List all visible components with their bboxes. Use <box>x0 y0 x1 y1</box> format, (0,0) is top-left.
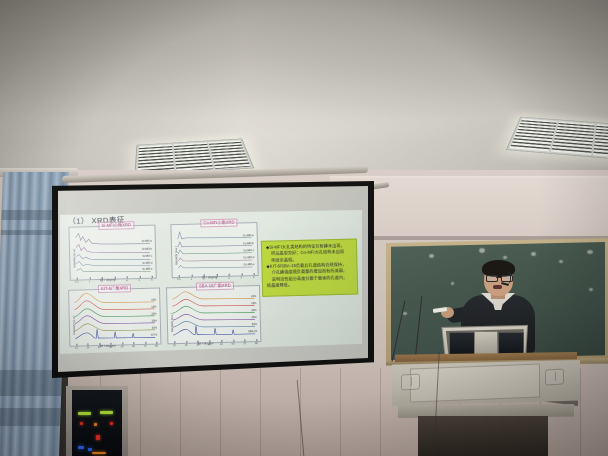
chalk-smudge <box>479 248 485 253</box>
rack-status-led <box>88 448 92 451</box>
curve-label-tl-3: Si-MFI-c <box>142 255 152 258</box>
xrd-plot-top-right: Intensity (a.u.) Co-MFI-a Co-MFI-b Co-MF… <box>170 222 258 278</box>
curve-label-bl-5: 30% <box>152 327 157 330</box>
x-tick-label: 0.5 <box>177 277 181 280</box>
curve-label-br-6: SBA-15 <box>248 330 257 333</box>
rack-status-led <box>78 446 84 449</box>
lectern-emblem-right-icon <box>545 369 564 386</box>
xrd-plot-top-left: Intensity (a.u.) Si-MFI-a Si-MFI-b Si-MF… <box>68 225 156 281</box>
curve-label-tl-1: Si-MFI-a <box>142 240 152 243</box>
curve-label-bl-3: 20% <box>151 313 156 316</box>
x-tick-label: 20 <box>86 346 89 349</box>
curve-label-tr-1: Co-MFI-a <box>243 234 254 237</box>
x-tick-label: 1 <box>89 280 91 283</box>
console-center-panel[interactable] <box>474 331 498 357</box>
wainscot-seam <box>340 368 341 456</box>
curve-label-br-2: 15% <box>251 302 256 305</box>
x-tick-label: 6 <box>253 276 255 279</box>
wainscot-seam <box>140 368 141 456</box>
curve-label-bl-1: 10% <box>151 299 156 302</box>
x-tick-label: 1 <box>191 277 193 280</box>
plot-tr-xlabel: 2θ / degree <box>202 275 218 279</box>
curve-label-tl-4: Si-MFI-d <box>142 262 152 265</box>
x-tick-label: 0.5 <box>75 280 79 283</box>
curtain-shadow <box>0 408 61 426</box>
slide-notes-box: ◆Si-MFI大孔类结构的特征衍射峰未出现， 样品晶型完好；Co-MFI大孔结构… <box>261 238 358 296</box>
x-tick-label: 4 <box>228 276 230 279</box>
plot-tl-xlabel: 2θ / degree <box>100 278 116 282</box>
chalk-smudge <box>451 282 454 285</box>
lectern-pedestal <box>418 416 548 456</box>
x-tick-label: 60 <box>132 345 135 348</box>
curve-label-br-1: 10% <box>251 295 256 298</box>
chalk-smudge <box>589 288 593 291</box>
curve-label-br-4: 25% <box>252 316 257 319</box>
rack-status-led <box>94 423 97 426</box>
x-tick-label: 10 <box>173 344 176 347</box>
lectern-center-panel <box>410 364 540 403</box>
x-tick-label: 5 <box>241 276 243 279</box>
curve-label-bl-2: 15% <box>151 306 156 309</box>
lectern-emblem-left-icon <box>401 374 420 391</box>
curve-label-br-5: 30% <box>252 323 257 326</box>
curve-label-br-3: 20% <box>251 309 256 312</box>
wainscot-seam <box>580 368 581 456</box>
control-monitor-left[interactable] <box>449 332 475 356</box>
lecture-room-photo: （1） XRD表征 Intensity (a.u.) Si-MFI-a Si-M… <box>0 0 608 456</box>
xrd-plot-bottom-right: Intensity (a.u.) 10% 15% 20% 25% 30% <box>166 285 261 344</box>
wainscot-seam <box>220 368 221 456</box>
plot-br-xlabel: 2θ / degree <box>197 341 213 345</box>
rack-status-led <box>96 435 100 440</box>
slide-content: （1） XRD表征 Intensity (a.u.) Si-MFI-a Si-M… <box>60 210 362 354</box>
x-tick-label: 5 <box>139 278 141 281</box>
plot-bl-caption: KIT-6广角XRD <box>98 284 131 293</box>
wainscot-seam <box>180 368 181 456</box>
x-tick-label: 80 <box>255 342 258 345</box>
x-tick-label: 20 <box>185 343 188 346</box>
curve-label-tr-3: Co-MFI-c <box>243 249 254 252</box>
curve-label-bl-6: KIT-6 <box>151 334 157 337</box>
curve-label-tl-5: Si-MFI-e <box>143 268 153 271</box>
av-rack-interior <box>72 390 122 456</box>
curve-label-tr-4: Co-MFI-d <box>243 256 254 259</box>
curve-label-tr-2: Co-MFI-b <box>243 242 254 245</box>
plot-br-caption: SBA-15广角XRD <box>196 282 234 291</box>
curve-label-bl-4: 25% <box>152 320 157 323</box>
note-line-7: 结晶度降低。 <box>267 281 353 290</box>
x-tick-label: 60 <box>232 342 235 345</box>
x-tick-label: 6 <box>151 278 153 281</box>
x-tick-label: 80 <box>155 344 158 347</box>
plot-tr-caption: Co-MFI小角XRD <box>200 219 237 228</box>
wainscot-seam <box>380 368 381 456</box>
x-tick-label: 4 <box>126 279 128 282</box>
chalk-smudge <box>403 312 407 315</box>
chalk-smudge <box>429 254 434 258</box>
x-tick-label: 50 <box>220 342 223 345</box>
rack-status-led <box>100 411 113 414</box>
presenter-mouth <box>493 285 502 289</box>
x-tick-label: 10 <box>75 346 78 349</box>
rack-status-led <box>110 422 113 425</box>
plot-bl-xlabel: 2θ / degree <box>99 344 115 348</box>
rack-status-led <box>78 412 91 415</box>
control-monitor-right[interactable] <box>498 332 524 356</box>
glasses-bridge <box>496 277 501 278</box>
x-tick-label: 70 <box>144 344 147 347</box>
wainscot-seam <box>260 368 261 456</box>
rack-status-led <box>80 422 83 425</box>
rack-status-led <box>92 452 106 454</box>
plot-tl-caption: Si-MFI小角XRD <box>98 221 134 230</box>
curve-label-tl-2: Si-MFI-b <box>142 248 152 251</box>
xrd-plot-bottom-left: Intensity (a.u.) 10% 15% 20% 25% 30% <box>68 287 161 346</box>
x-tick-label: 70 <box>243 342 246 345</box>
chalk-smudge <box>559 260 563 263</box>
x-tick-label: 50 <box>121 345 124 348</box>
chalk-smudge <box>587 250 593 254</box>
headset-band <box>507 271 511 284</box>
curve-label-tr-5: Co-MFI-e <box>243 263 254 266</box>
